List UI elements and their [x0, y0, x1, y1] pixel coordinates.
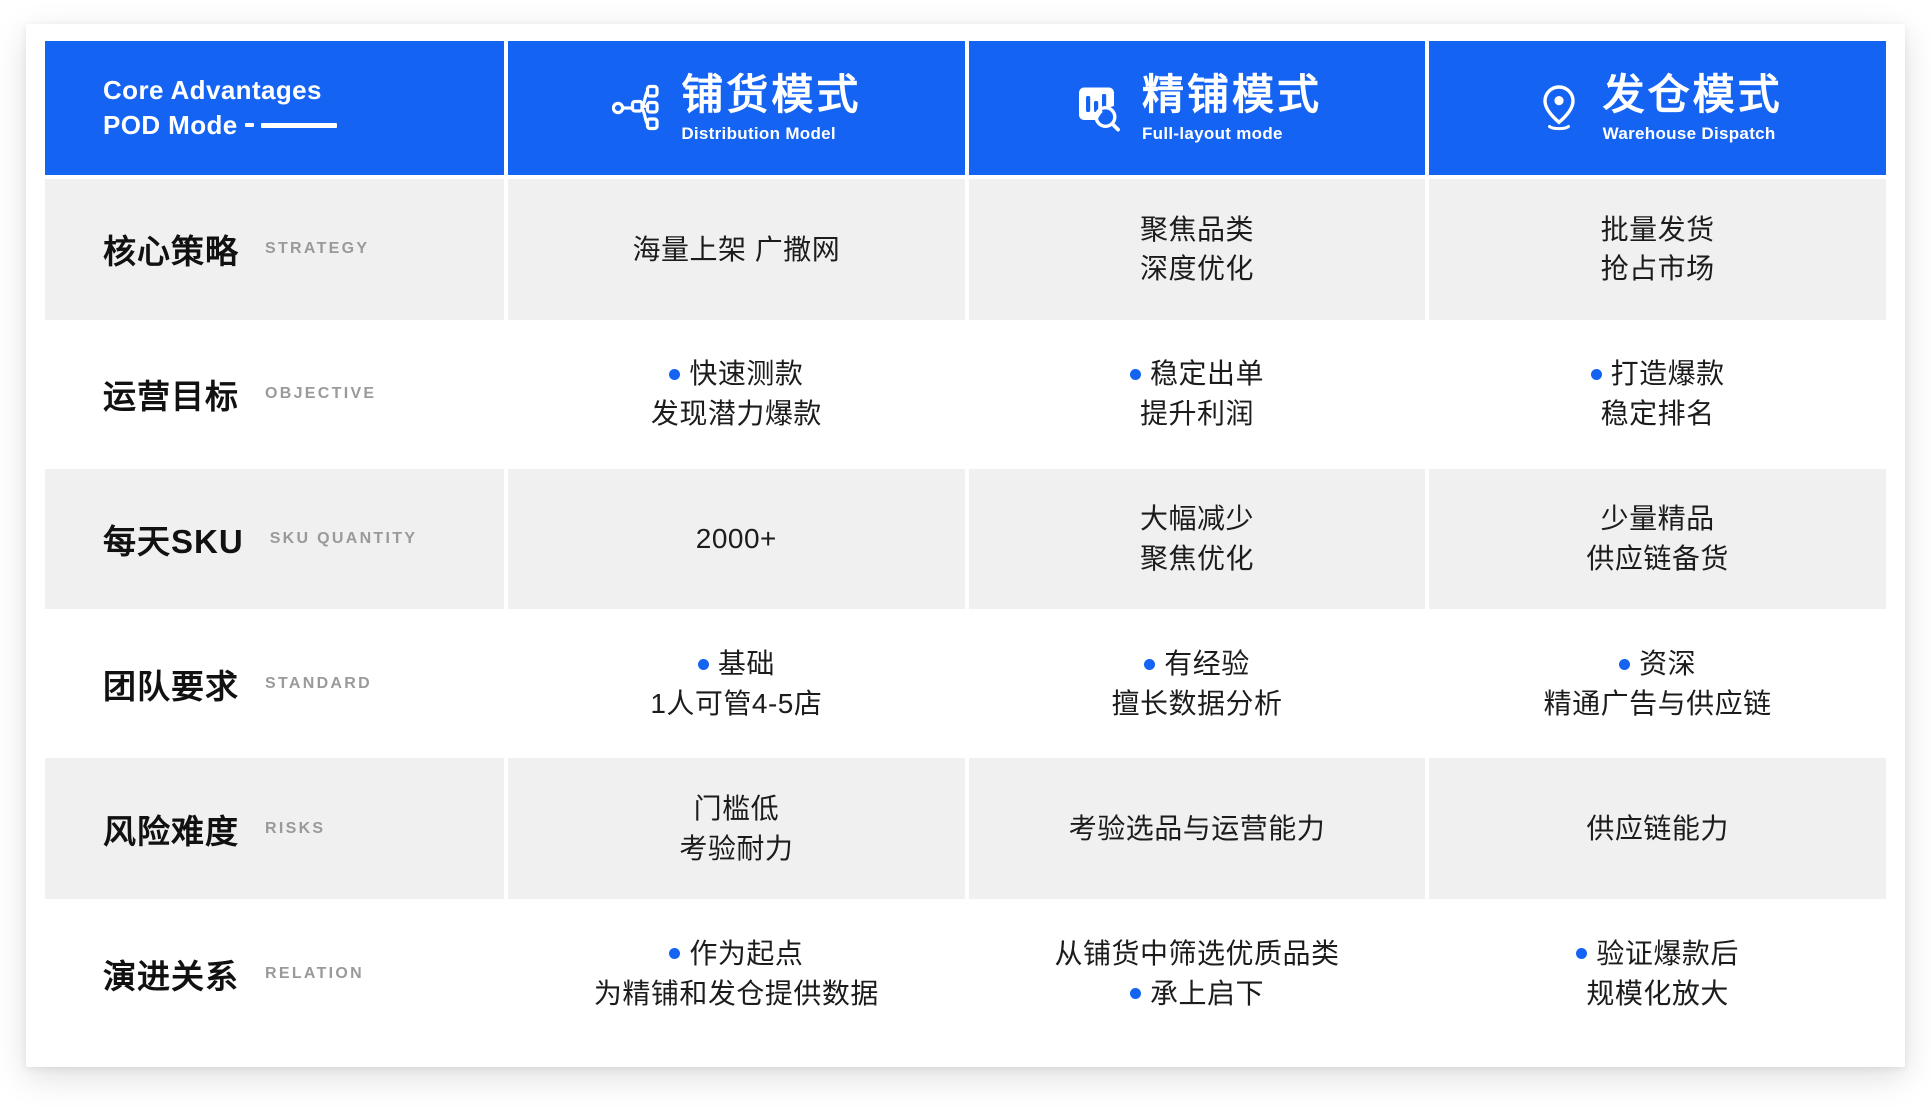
cell-text-line: 有经验 — [1144, 644, 1250, 684]
cell-text-line: 快速测款 — [669, 354, 803, 394]
cell-text: 2000+ — [696, 519, 777, 559]
cell-content: 大幅减少聚焦优化 — [1140, 499, 1254, 579]
cell-text-line: 发现潜力爆款 — [651, 394, 822, 434]
bullet-dot-icon — [1144, 659, 1155, 670]
cell-text-line: 海量上架 广撒网 — [632, 230, 840, 270]
row-label-cn: 风险难度 — [103, 805, 239, 853]
cell-text: 快速测款 — [689, 354, 803, 394]
cell-text-line: 为精铺和发仓提供数据 — [594, 974, 879, 1014]
cell-text-line: 从铺货中筛选优质品类 — [1055, 934, 1340, 974]
cell-text: 聚焦品类 — [1140, 210, 1254, 250]
row-label-cell: 运营目标OBJECTIVE — [45, 324, 504, 465]
row-label-en: OBJECTIVE — [265, 385, 376, 403]
row-label-en: RISKS — [265, 820, 325, 838]
cell-content: 从铺货中筛选优质品类承上启下 — [1055, 934, 1340, 1014]
cell-text: 门槛低 — [694, 789, 780, 829]
cell-text-line: 批量发货 — [1601, 210, 1715, 250]
cell-text-line: 稳定出单 — [1130, 354, 1264, 394]
table-cell: 2000+ — [508, 469, 965, 610]
cell-content: 考验选品与运营能力 — [1069, 809, 1326, 849]
cell-text-line: 深度优化 — [1140, 249, 1254, 289]
cell-content: 供应链能力 — [1586, 809, 1729, 849]
table-cell: 门槛低考验耐力 — [508, 758, 965, 899]
table-cell: 作为起点为精铺和发仓提供数据 — [508, 903, 965, 1044]
table-row: 每天SKUSKU QUANTITY2000+大幅减少聚焦优化少量精品供应链备货 — [45, 469, 1886, 610]
bullet-dot-icon — [1619, 659, 1630, 670]
table-cell: 海量上架 广撒网 — [508, 179, 965, 320]
share-network-icon — [611, 81, 663, 135]
cell-text-line: 资深 — [1619, 644, 1696, 684]
cell-text-line: 1人可管4-5店 — [650, 684, 822, 724]
cell-content: 资深精通广告与供应链 — [1544, 644, 1772, 724]
cell-text-line: 少量精品 — [1601, 499, 1715, 539]
header-title-en: Warehouse Dispatch — [1603, 124, 1776, 144]
bullet-dot-icon — [1130, 369, 1141, 380]
table-row: 核心策略STRATEGY海量上架 广撒网聚焦品类深度优化批量发货抢占市场 — [45, 179, 1886, 320]
bullet-dot-icon — [1130, 988, 1141, 999]
table-row: 风险难度RISKS门槛低考验耐力考验选品与运营能力供应链能力 — [45, 758, 1886, 899]
cell-text: 基础 — [718, 644, 775, 684]
table-cell: 批量发货抢占市场 — [1429, 179, 1886, 320]
row-label-en: RELATION — [265, 965, 364, 983]
header-cell-distribution[interactable]: 铺货模式 Distribution Model — [508, 41, 965, 175]
cell-content: 验证爆款后规模化放大 — [1576, 934, 1739, 1014]
cell-content: 基础1人可管4-5店 — [650, 644, 822, 724]
cell-content: 2000+ — [696, 519, 777, 559]
cell-content: 稳定出单提升利润 — [1130, 354, 1264, 434]
table-cell: 从铺货中筛选优质品类承上启下 — [969, 903, 1426, 1044]
cell-text: 供应链备货 — [1586, 539, 1729, 579]
table-cell: 考验选品与运营能力 — [969, 758, 1426, 899]
row-label-cell: 风险难度RISKS — [45, 758, 504, 899]
row-label-cell: 每天SKUSKU QUANTITY — [45, 469, 504, 610]
row-label-en: SKU QUANTITY — [270, 530, 418, 548]
row-label-cn: 每天SKU — [103, 515, 244, 563]
bullet-dot-icon — [1576, 948, 1587, 959]
table-cell: 打造爆款稳定排名 — [1429, 324, 1886, 465]
row-label-en: STRATEGY — [265, 240, 369, 258]
location-pin-icon — [1533, 81, 1585, 135]
cell-text: 从铺货中筛选优质品类 — [1055, 934, 1340, 974]
cell-text: 验证爆款后 — [1596, 934, 1739, 974]
cell-text-line: 承上启下 — [1130, 974, 1264, 1014]
cell-text: 抢占市场 — [1601, 249, 1715, 289]
table-cell: 稳定出单提升利润 — [969, 324, 1426, 465]
table-body: 核心策略STRATEGY海量上架 广撒网聚焦品类深度优化批量发货抢占市场运营目标… — [45, 179, 1886, 1044]
bullet-dot-icon — [669, 369, 680, 380]
cell-text: 资深 — [1639, 644, 1696, 684]
table-row: 演进关系RELATION作为起点为精铺和发仓提供数据从铺货中筛选优质品类承上启下… — [45, 903, 1886, 1044]
cell-content: 少量精品供应链备货 — [1586, 499, 1729, 579]
dash-rule-icon — [245, 123, 254, 127]
comparison-table: Core Advantages POD Mode — [45, 41, 1886, 1044]
page-root: Core Advantages POD Mode — [0, 0, 1931, 1109]
header-cell-full-layout[interactable]: 精铺模式 Full-layout mode — [969, 41, 1426, 175]
table-cell: 资深精通广告与供应链 — [1429, 613, 1886, 754]
cell-text: 提升利润 — [1140, 394, 1254, 434]
comparison-card: Core Advantages POD Mode — [26, 24, 1905, 1067]
row-label-cell: 团队要求STANDARD — [45, 613, 504, 754]
cell-text: 打造爆款 — [1611, 354, 1725, 394]
cell-content: 门槛低考验耐力 — [679, 789, 793, 869]
cell-text: 作为起点 — [689, 934, 803, 974]
table-cell: 大幅减少聚焦优化 — [969, 469, 1426, 610]
cell-text: 为精铺和发仓提供数据 — [594, 974, 879, 1014]
row-label-cn: 演进关系 — [103, 950, 239, 998]
table-cell: 有经验擅长数据分析 — [969, 613, 1426, 754]
cell-text-line: 精通广告与供应链 — [1544, 684, 1772, 724]
cell-text: 大幅减少 — [1140, 499, 1254, 539]
cell-text: 考验耐力 — [679, 829, 793, 869]
cell-text-line: 规模化放大 — [1586, 974, 1729, 1014]
cell-text: 承上启下 — [1150, 974, 1264, 1014]
table-cell: 基础1人可管4-5店 — [508, 613, 965, 754]
cell-text-line: 2000+ — [696, 519, 777, 559]
cell-text: 少量精品 — [1601, 499, 1715, 539]
cell-content: 海量上架 广撒网 — [632, 230, 840, 270]
cell-text-line: 大幅减少 — [1140, 499, 1254, 539]
cell-text: 1人可管4-5店 — [650, 684, 822, 724]
header-cell-warehouse[interactable]: 发仓模式 Warehouse Dispatch — [1429, 41, 1886, 175]
row-label-cn: 核心策略 — [103, 225, 239, 273]
cell-text: 深度优化 — [1140, 249, 1254, 289]
brand-line1: Core Advantages — [103, 73, 337, 108]
table-cell: 聚焦品类深度优化 — [969, 179, 1426, 320]
row-label-cell: 核心策略STRATEGY — [45, 179, 504, 320]
brand-title: Core Advantages POD Mode — [103, 73, 337, 142]
cell-text-line: 稳定排名 — [1601, 394, 1715, 434]
header-title-cn: 发仓模式 — [1603, 72, 1783, 117]
cell-text: 精通广告与供应链 — [1544, 684, 1772, 724]
cell-text: 海量上架 广撒网 — [632, 230, 840, 270]
cell-text: 供应链能力 — [1586, 809, 1729, 849]
cell-text-line: 供应链备货 — [1586, 539, 1729, 579]
header-cell-brand: Core Advantages POD Mode — [45, 41, 504, 175]
table-row: 运营目标OBJECTIVE快速测款发现潜力爆款稳定出单提升利润打造爆款稳定排名 — [45, 324, 1886, 465]
header-title-en: Full-layout mode — [1142, 124, 1283, 144]
cell-text: 规模化放大 — [1586, 974, 1729, 1014]
cell-text-line: 抢占市场 — [1601, 249, 1715, 289]
cell-text: 稳定排名 — [1601, 394, 1715, 434]
row-label-cell: 演进关系RELATION — [45, 903, 504, 1044]
cell-text-line: 聚焦优化 — [1140, 539, 1254, 579]
cell-text: 发现潜力爆款 — [651, 394, 822, 434]
cell-content: 有经验擅长数据分析 — [1112, 644, 1283, 724]
row-label-en: STANDARD — [265, 675, 372, 693]
dash-rule-long-icon — [261, 123, 337, 128]
cell-text: 批量发货 — [1601, 210, 1715, 250]
table-row: 团队要求STANDARD基础1人可管4-5店有经验擅长数据分析资深精通广告与供应… — [45, 613, 1886, 754]
bullet-dot-icon — [1591, 369, 1602, 380]
cell-text-line: 基础 — [698, 644, 775, 684]
table-cell: 供应链能力 — [1429, 758, 1886, 899]
cell-text-line: 供应链能力 — [1586, 809, 1729, 849]
cell-text: 有经验 — [1164, 644, 1250, 684]
cell-text-line: 门槛低 — [694, 789, 780, 829]
cell-text-line: 考验选品与运营能力 — [1069, 809, 1326, 849]
cell-content: 快速测款发现潜力爆款 — [651, 354, 822, 434]
cell-text-line: 聚焦品类 — [1140, 210, 1254, 250]
table-header-row: Core Advantages POD Mode — [45, 41, 1886, 175]
table-cell: 验证爆款后规模化放大 — [1429, 903, 1886, 1044]
bullet-dot-icon — [669, 948, 680, 959]
cell-content: 聚焦品类深度优化 — [1140, 210, 1254, 290]
cell-text-line: 考验耐力 — [679, 829, 793, 869]
chart-search-icon — [1072, 81, 1124, 135]
table-cell: 少量精品供应链备货 — [1429, 469, 1886, 610]
header-title-en: Distribution Model — [681, 124, 836, 144]
cell-text-line: 提升利润 — [1140, 394, 1254, 434]
cell-content: 打造爆款稳定排名 — [1591, 354, 1725, 434]
row-label-cn: 团队要求 — [103, 660, 239, 708]
cell-content: 批量发货抢占市场 — [1601, 210, 1715, 290]
cell-text: 稳定出单 — [1150, 354, 1264, 394]
header-title-cn: 精铺模式 — [1142, 72, 1322, 117]
header-title-cn: 铺货模式 — [681, 72, 861, 117]
row-label-cn: 运营目标 — [103, 370, 239, 418]
cell-text-line: 打造爆款 — [1591, 354, 1725, 394]
brand-line2: POD Mode — [103, 108, 238, 143]
cell-text: 考验选品与运营能力 — [1069, 809, 1326, 849]
table-cell: 快速测款发现潜力爆款 — [508, 324, 965, 465]
bullet-dot-icon — [698, 659, 709, 670]
cell-text-line: 擅长数据分析 — [1112, 684, 1283, 724]
cell-text: 聚焦优化 — [1140, 539, 1254, 579]
cell-text: 擅长数据分析 — [1112, 684, 1283, 724]
cell-text-line: 验证爆款后 — [1576, 934, 1739, 974]
cell-text-line: 作为起点 — [669, 934, 803, 974]
cell-content: 作为起点为精铺和发仓提供数据 — [594, 934, 879, 1014]
